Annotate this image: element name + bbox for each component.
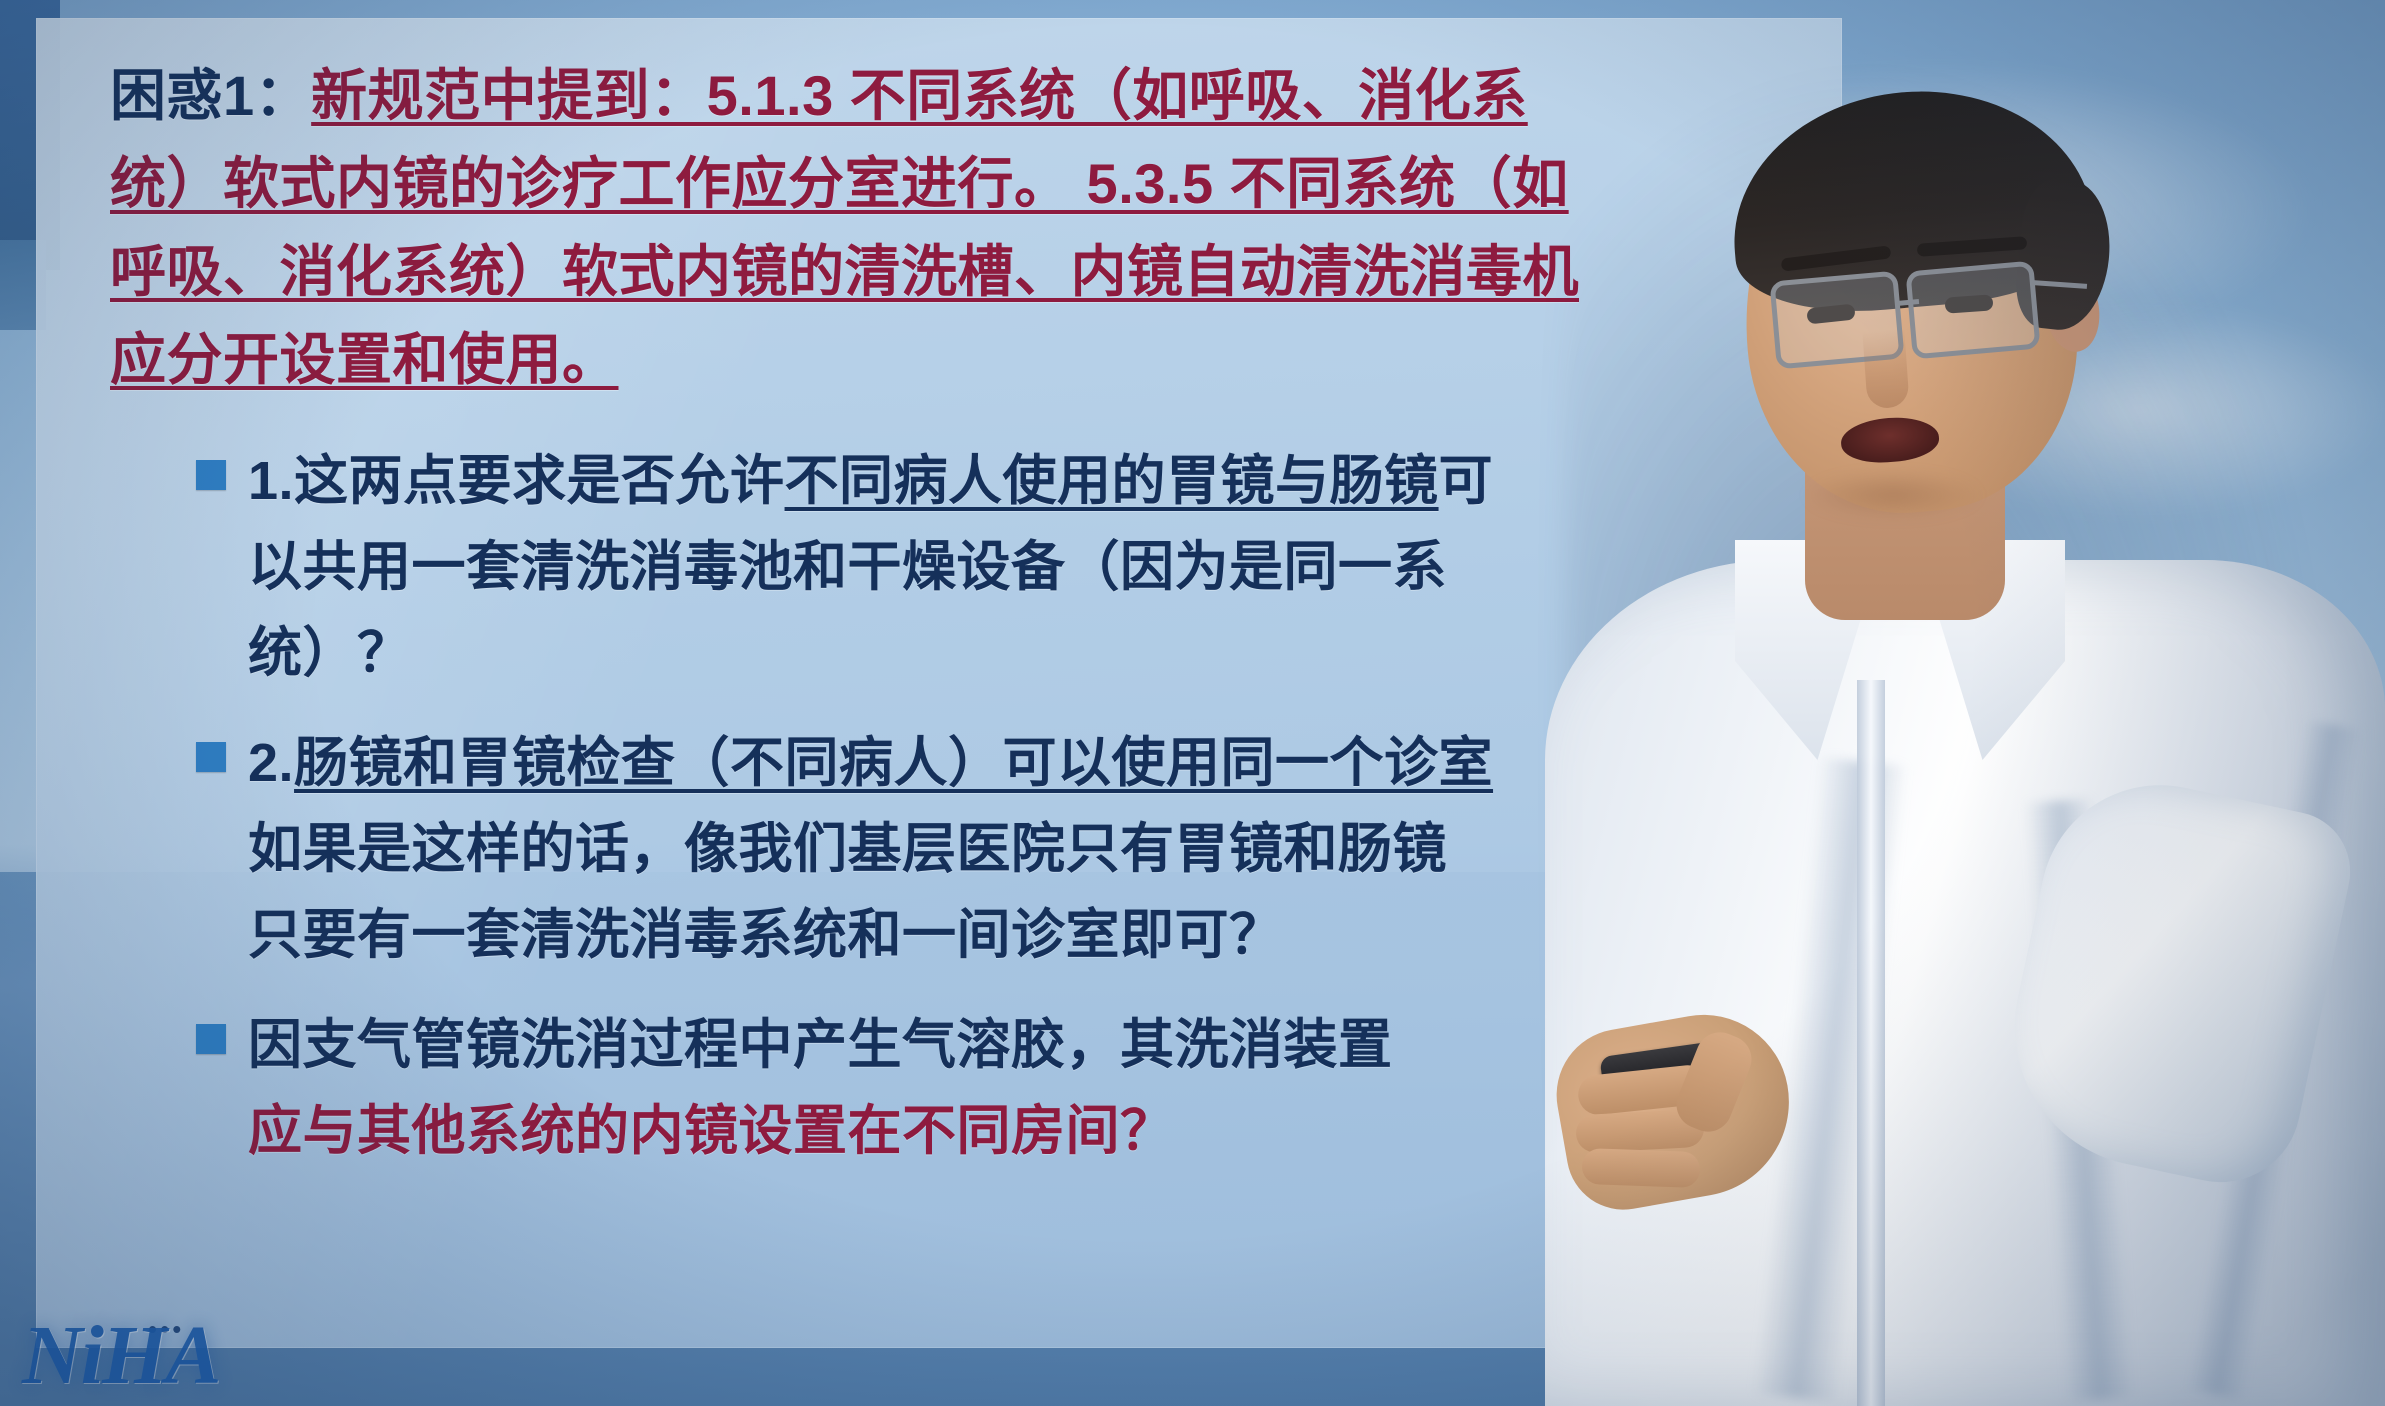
finger xyxy=(1581,1148,1700,1188)
square-bullet-icon xyxy=(196,460,226,490)
bullet-3-line-1: 因支气管镜洗消过程中产生气溶胶，其洗消装置 xyxy=(248,1002,1393,1088)
quote-line-2: 统）软式内镜的诊疗工作应分室进行。 5.3.5 不同系统（如 xyxy=(110,152,1569,215)
quote-line-3: 呼吸、消化系统）软式内镜的清洗槽、内镜自动清洗消毒机 xyxy=(110,240,1579,303)
chin-shadow xyxy=(1803,470,1983,520)
bullet-2-seg-1: 2. xyxy=(248,733,294,793)
watermark-text: NiHA xyxy=(22,1308,292,1404)
square-bullet-icon xyxy=(196,1024,226,1054)
channel-watermark: ••• NiHA xyxy=(22,1308,292,1404)
bullet-1-line-3: 统）？ xyxy=(248,610,1493,696)
bullet-3-line-2: 应与其他系统的内镜设置在不同房间？ xyxy=(248,1088,1393,1174)
square-bullet-icon xyxy=(196,742,226,772)
bullet-2-line-3: 只要有一套清洗消毒系统和一间诊室即可？ xyxy=(248,892,1493,978)
bullet-1-seg-2-underlined: 不同病人使用的胃镜与肠镜 xyxy=(785,451,1439,511)
bullet-1-seg-1: 1.这两点要求是否允许 xyxy=(248,451,785,511)
quote-line-4: 应分开设置和使用。 xyxy=(110,328,619,391)
bullet-2-line-2: 如果是这样的话，像我们基层医院只有胃镜和肠镜 xyxy=(248,806,1493,892)
bullet-2-text: 2.肠镜和胃镜检查（不同病人）可以使用同一个诊室 如果是这样的话，像我们基层医院… xyxy=(248,720,1493,978)
glasses-lens-right xyxy=(1905,261,2040,360)
nose xyxy=(1862,329,1909,410)
bullet-1-line-1: 1.这两点要求是否允许不同病人使用的胃镜与肠镜可 xyxy=(248,438,1493,524)
confusion-label: 困惑1： xyxy=(110,64,311,127)
bullet-2-line-1: 2.肠镜和胃镜检查（不同病人）可以使用同一个诊室 xyxy=(248,720,1493,806)
quote-line-1: 新规范中提到：5.1.3 不同系统（如呼吸、消化系 xyxy=(311,64,1528,127)
video-frame: 困惑1：新规范中提到：5.1.3 不同系统（如呼吸、消化系 统）软式内镜的诊疗工… xyxy=(0,0,2385,1406)
bullet-1-text: 1.这两点要求是否允许不同病人使用的胃镜与肠镜可 以共用一套清洗消毒池和干燥设备… xyxy=(248,438,1493,696)
bullet-1-line-2: 以共用一套清洗消毒池和干燥设备（因为是同一系 xyxy=(248,524,1493,610)
bullet-3-text: 因支气管镜洗消过程中产生气溶胶，其洗消装置 应与其他系统的内镜设置在不同房间？ xyxy=(248,1002,1393,1174)
shirt-placket xyxy=(1857,680,1885,1406)
bullet-2-seg-2-underlined: 肠镜和胃镜检查（不同病人）可以使用同一个诊室 xyxy=(294,733,1493,793)
